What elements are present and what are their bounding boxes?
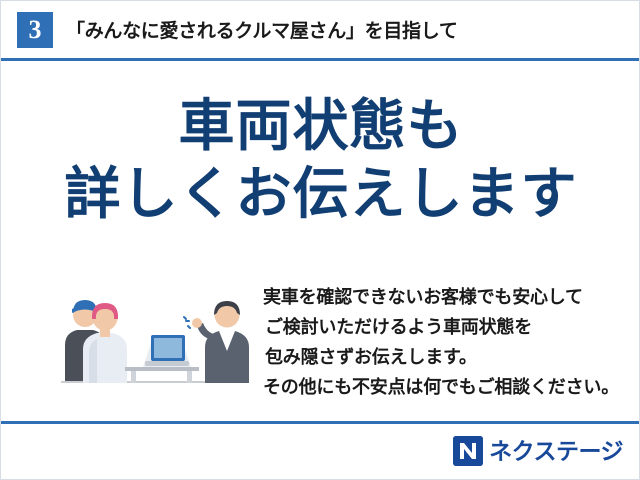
body-copy: 実車を確認できないお客様でも安心して ご検討いただけるよう車両状態を 包み隠さず… <box>263 282 623 402</box>
desk <box>125 367 199 383</box>
header-title: 「みんなに愛されるクルマ屋さん」を目指して <box>66 16 458 43</box>
header-step-number: 3 <box>17 12 53 48</box>
brand-logo: ネクステージ <box>453 435 623 467</box>
headline-line-2: 詳しくお伝えします <box>1 159 640 229</box>
customers-and-staff-illustration <box>59 273 249 391</box>
headline-line-1: 車両状態も <box>1 93 640 159</box>
body-copy-line-2: ご検討いただけるよう車両状態を <box>263 312 623 342</box>
person-staff-right <box>192 301 249 383</box>
body-copy-line-1: 実車を確認できないお客様でも安心して <box>263 282 623 312</box>
page-title: 車両状態も 詳しくお伝えします <box>1 93 640 229</box>
brand-name: ネクステージ <box>489 440 623 463</box>
header: 3 「みんなに愛されるクルマ屋さん」を目指して <box>1 1 640 61</box>
nextage-n-mark-icon <box>453 436 483 466</box>
body-copy-line-4: その他にも不安点は何でもご相談ください。 <box>263 372 623 402</box>
footer: ネクステージ <box>1 421 640 479</box>
sparkle-icon <box>184 317 190 328</box>
body-copy-line-3: 包み隠さずお伝えします。 <box>263 342 623 372</box>
promo-banner: 3 「みんなに愛されるクルマ屋さん」を目指して 車両状態も 詳しくお伝えします <box>0 0 640 480</box>
laptop <box>143 335 191 367</box>
